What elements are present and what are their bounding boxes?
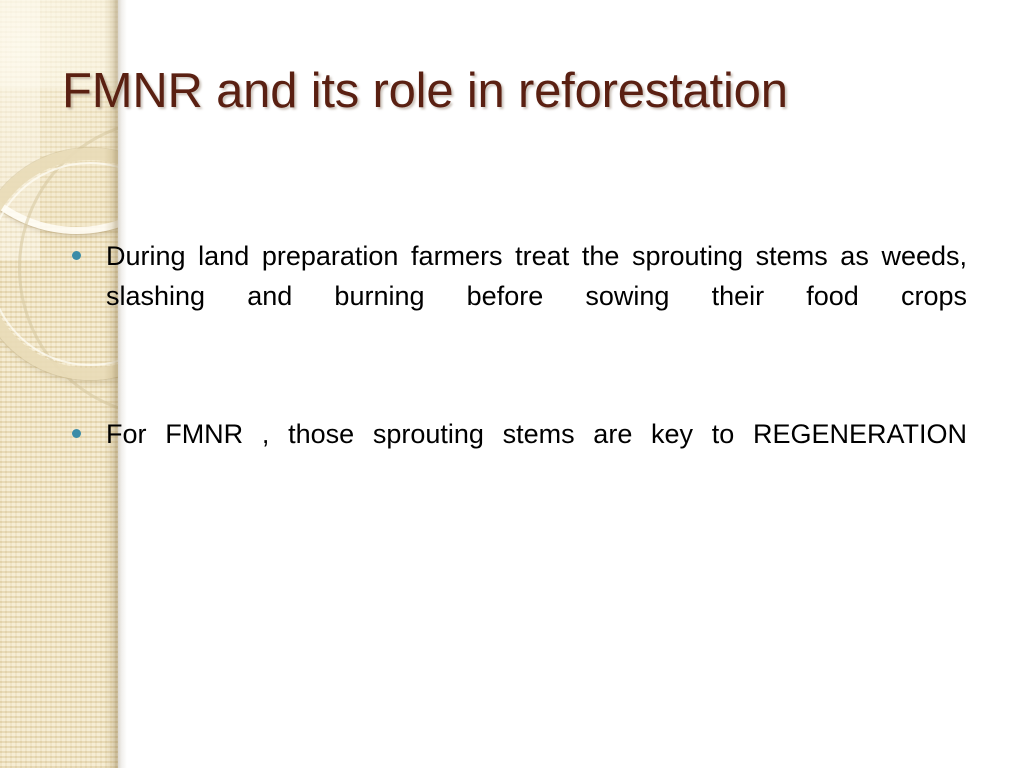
bullet-dot-icon [72, 429, 81, 438]
slide-body: During land preparation farmers treat th… [62, 236, 967, 494]
bullet-item: During land preparation farmers treat th… [62, 236, 967, 356]
bullet-item-text: For FMNR , those sprouting stems are key… [106, 414, 967, 494]
slide-title: FMNR and its role in reforestation [62, 62, 962, 120]
slide-canvas: FMNR and its role in reforestation Durin… [0, 0, 1024, 768]
bullet-item: For FMNR , those sprouting stems are key… [62, 414, 967, 494]
bullet-dot-icon [72, 251, 81, 260]
bullet-item-text: During land preparation farmers treat th… [106, 236, 967, 356]
